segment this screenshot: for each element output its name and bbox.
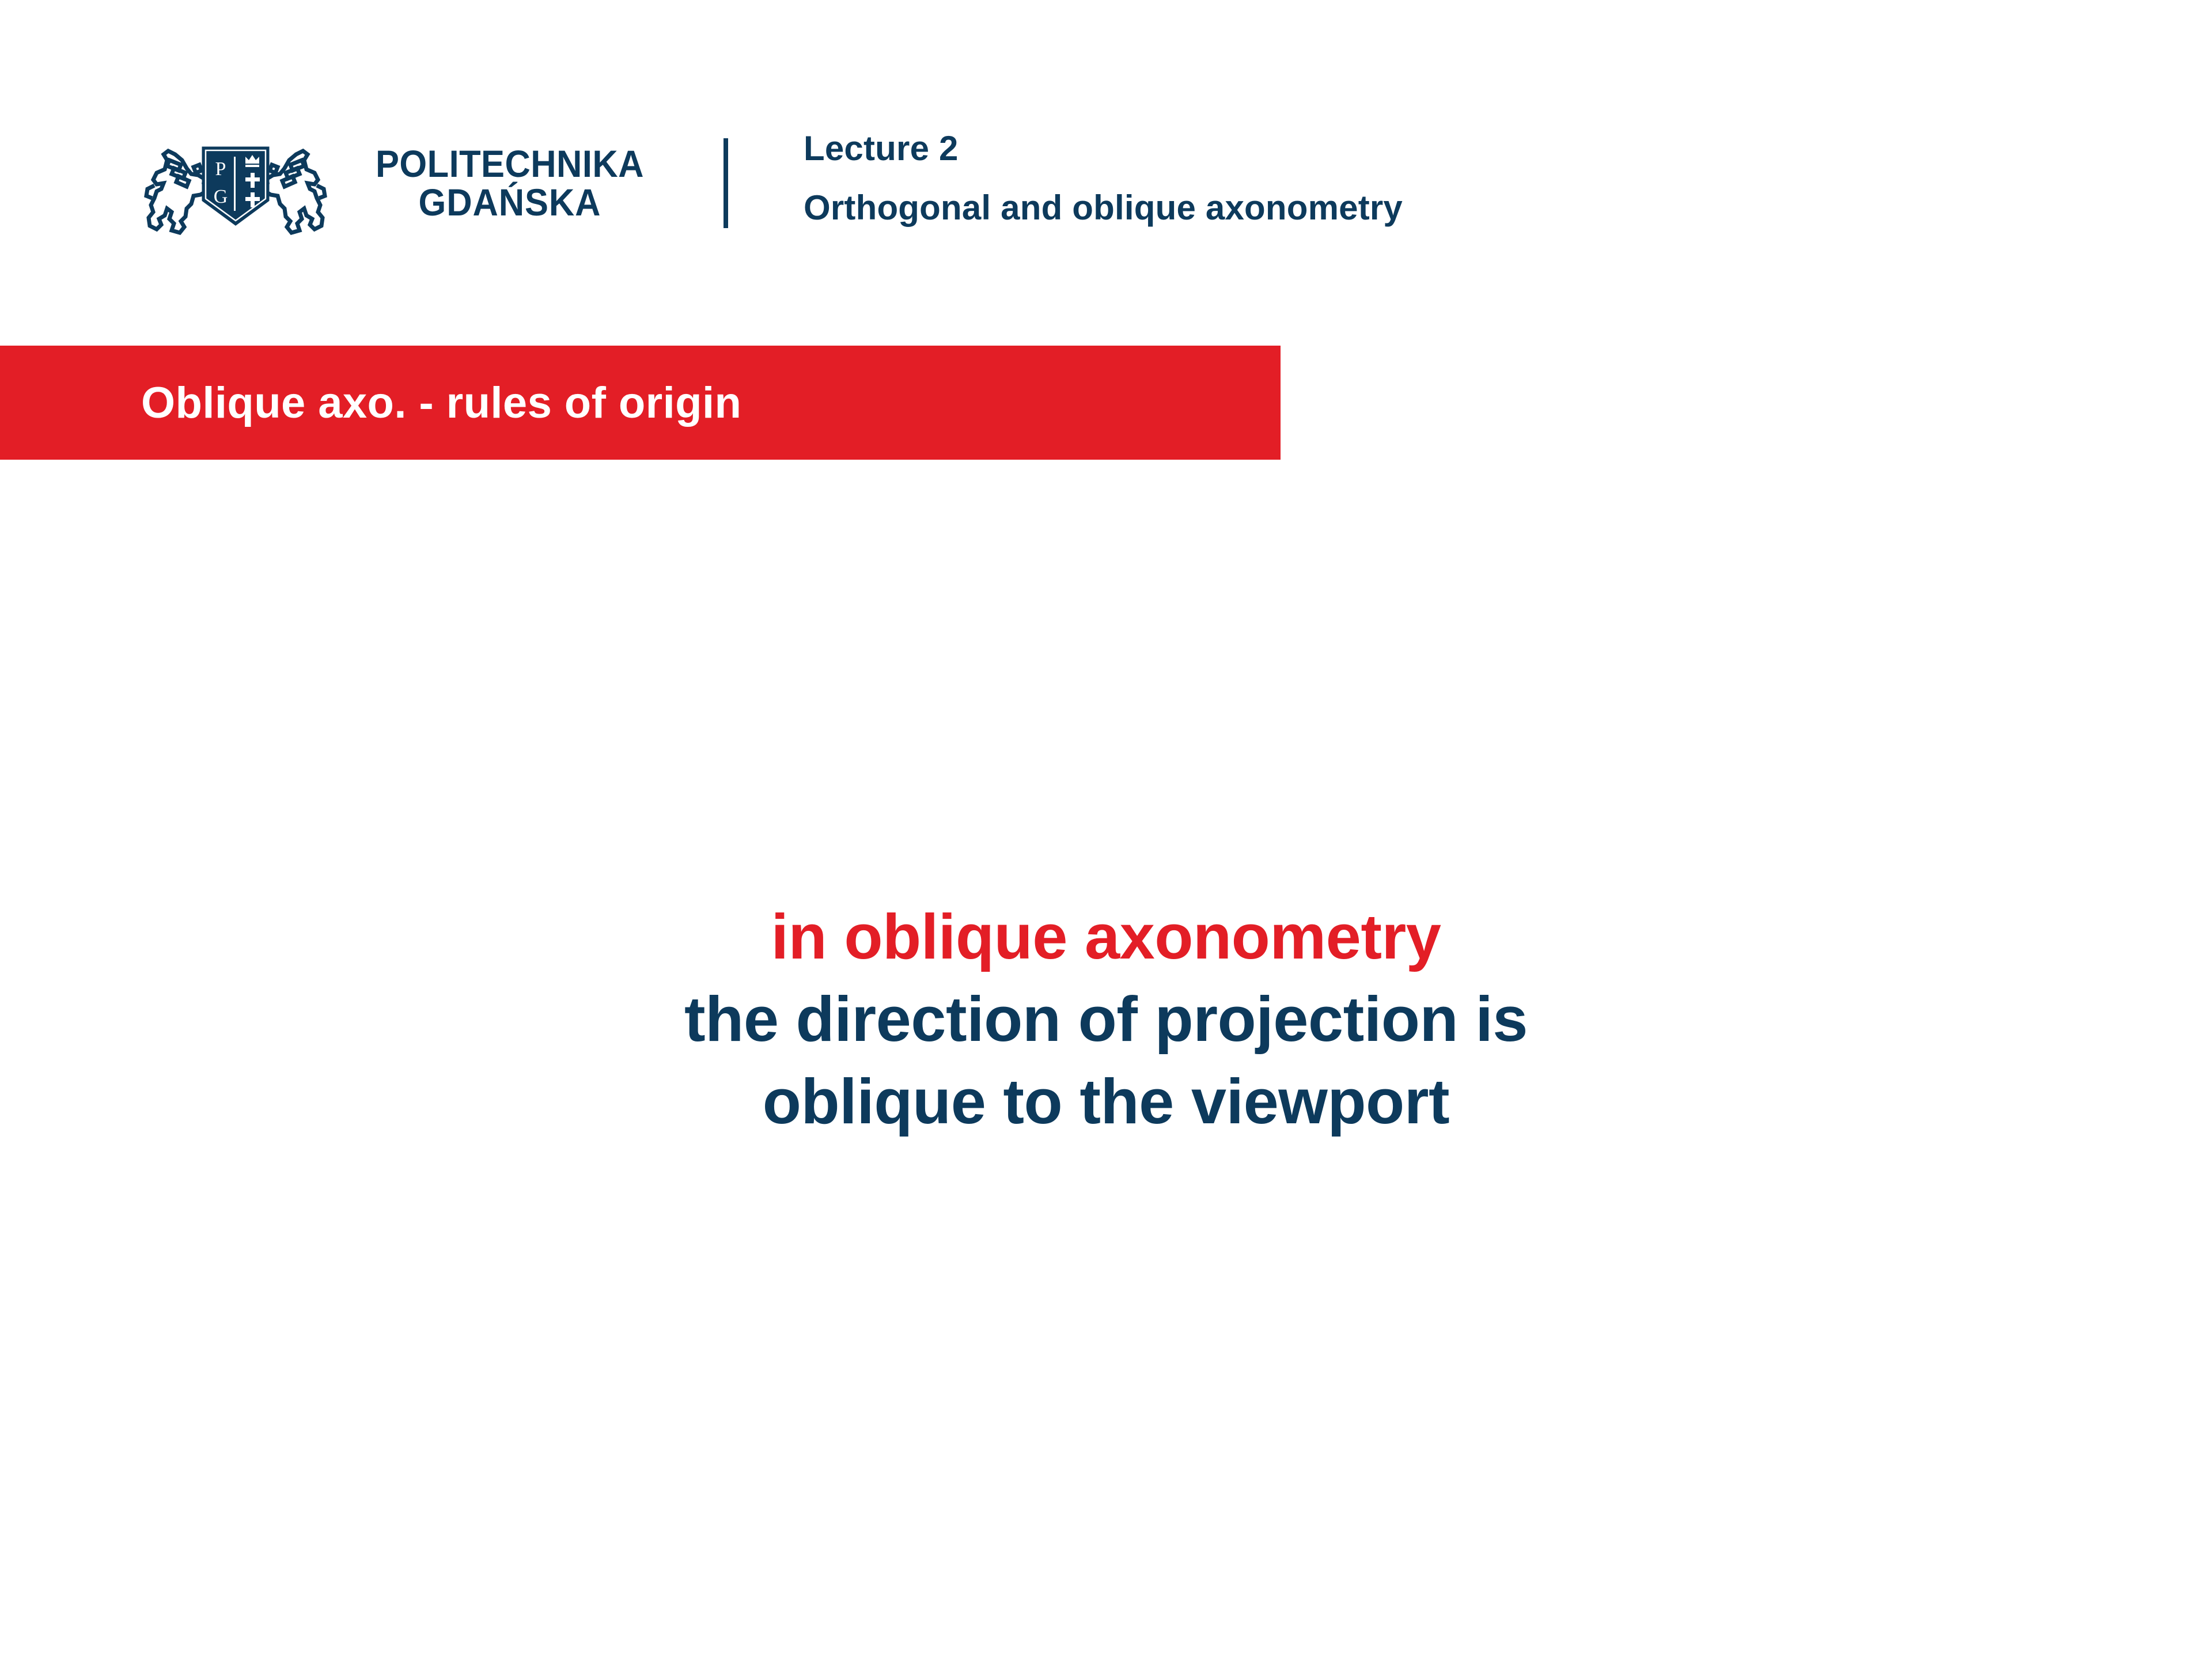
- header-vertical-divider: [724, 138, 728, 228]
- lecture-subject: Orthogonal and oblique axonometry: [804, 188, 1403, 227]
- svg-text:P: P: [215, 158, 226, 180]
- wordmark-line-2: GDAŃSKA: [376, 183, 644, 222]
- slide-canvas: P G POLITECHNIKA GDAŃSKA Lecture: [0, 0, 2212, 1659]
- lecture-label: Lecture 2: [804, 129, 1403, 168]
- university-branding: P G POLITECHNIKA GDAŃSKA: [131, 131, 664, 235]
- lecture-info: Lecture 2 Orthogonal and oblique axonome…: [804, 129, 1403, 227]
- slide-header: P G POLITECHNIKA GDAŃSKA Lecture: [0, 0, 2212, 271]
- wordmark-line-1: POLITECHNIKA: [376, 145, 644, 183]
- statement-line-2: the direction of projection is: [0, 978, 2212, 1060]
- statement-line-1: in oblique axonometry: [0, 896, 2212, 978]
- slide-statement: in oblique axonometry the direction of p…: [0, 896, 2212, 1143]
- statement-line-3: oblique to the viewport: [0, 1060, 2212, 1143]
- section-title-text: Oblique axo. - rules of origin: [141, 378, 741, 428]
- section-title-bar: Oblique axo. - rules of origin: [0, 346, 1281, 460]
- politechnika-gdanska-crest-icon: P G: [131, 131, 340, 235]
- svg-text:G: G: [214, 186, 228, 207]
- university-wordmark: POLITECHNIKA GDAŃSKA: [376, 145, 644, 222]
